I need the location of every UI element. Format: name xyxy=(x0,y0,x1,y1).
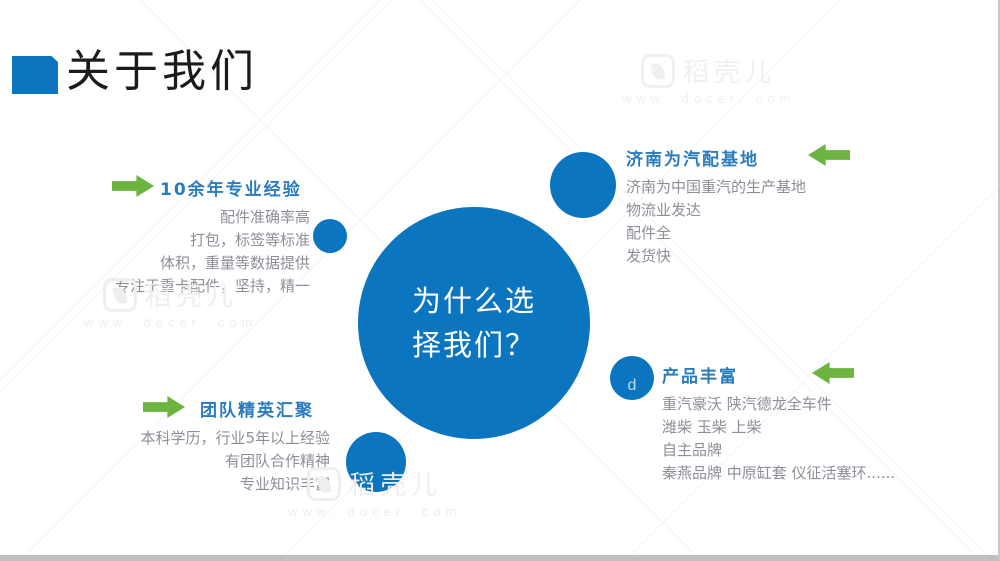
feature-line: 配件准确率高 xyxy=(10,206,310,229)
decor-circle-small-left xyxy=(313,219,347,253)
feature-line: 配件全 xyxy=(626,222,896,245)
feature-line: 专业知识丰富 xyxy=(0,473,330,496)
feature-block-products: 产品丰富 重汽豪沃 陕汽德龙全车件 潍柴 玉柴 上柴 自主品牌 秦燕品牌 中原缸… xyxy=(662,362,962,485)
page-title: 关于我们 xyxy=(66,42,258,102)
feature-line: 重汽豪沃 陕汽德龙全车件 xyxy=(662,393,962,416)
center-circle: 为什么选 择我们？ xyxy=(358,207,590,439)
slide-bottom-bar xyxy=(0,555,998,558)
feature-line: 有团队合作精神 xyxy=(0,450,330,473)
decor-circle-bottom xyxy=(346,432,406,492)
feature-line: 潍柴 玉柴 上柴 xyxy=(662,416,962,439)
feature-heading: 产品丰富 xyxy=(662,362,962,387)
feature-block-base: 济南为汽配基地 济南为中国重汽的生产基地 物流业发达 配件全 发货快 xyxy=(626,145,896,268)
feature-heading: 济南为汽配基地 xyxy=(626,145,896,170)
center-circle-text: 为什么选 择我们？ xyxy=(394,279,554,367)
feature-line: 体积，重量等数据提供 xyxy=(10,252,310,275)
title-accent-marker xyxy=(12,56,58,94)
feature-line: 本科学历，行业5年以上经验 xyxy=(0,427,330,450)
feature-line: 物流业发达 xyxy=(626,199,896,222)
feature-line: 济南为中国重汽的生产基地 xyxy=(626,176,896,199)
decor-dot-letter: d xyxy=(628,378,637,400)
feature-line: 打包，标签等标准 xyxy=(10,229,310,252)
feature-heading: 团队精英汇聚 xyxy=(200,396,330,421)
feature-line: 秦燕品牌 中原缸套 仪征活塞环...... xyxy=(662,462,962,485)
feature-line: 专注于重卡配件，坚持，精一 xyxy=(10,275,310,298)
watermark-url: www. docer. com xyxy=(622,91,795,106)
docer-logo-icon xyxy=(641,54,675,88)
feature-line: 发货快 xyxy=(626,245,896,268)
watermark: 稻壳儿 www. docer. com xyxy=(622,52,795,106)
feature-block-experience: 10余年专业经验 配件准确率高 打包，标签等标准 体积，重量等数据提供 专注于重… xyxy=(10,175,310,298)
watermark-url: www. docer. com xyxy=(84,315,257,330)
feature-heading: 10余年专业经验 xyxy=(160,175,310,200)
center-circle-line-2: 择我们？ xyxy=(394,323,554,367)
watermark-url: www. docer. com xyxy=(288,504,461,519)
decor-circle-top-right xyxy=(550,152,616,218)
watermark-brand: 稻壳儿 xyxy=(683,52,776,89)
feature-block-team: 团队精英汇聚 本科学历，行业5年以上经验 有团队合作精神 专业知识丰富 xyxy=(0,396,330,496)
center-circle-line-1: 为什么选 xyxy=(394,279,554,323)
feature-line: 自主品牌 xyxy=(662,439,962,462)
decor-circle-dot: d xyxy=(610,356,654,400)
slide-canvas: 关于我们 d 为什么选 择我们？ 10余年专业经验 配件准确率高 打包，标签等标… xyxy=(0,0,1000,561)
